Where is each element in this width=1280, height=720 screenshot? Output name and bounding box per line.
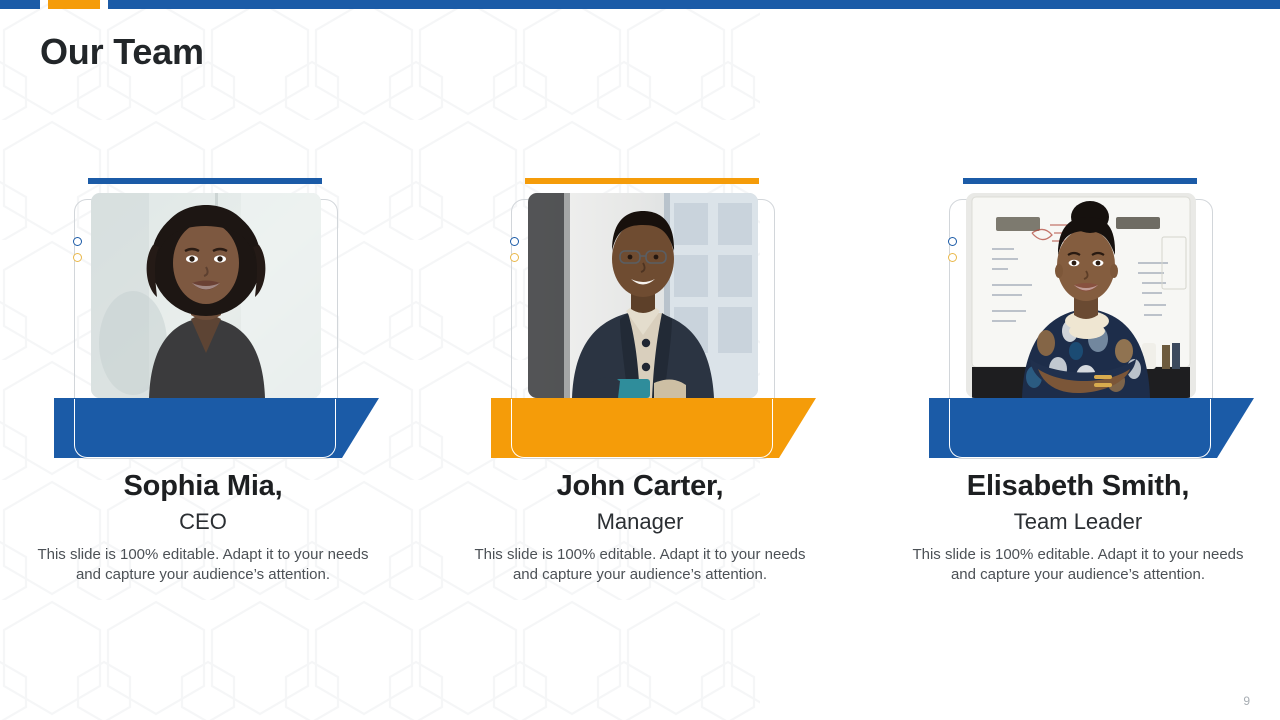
member-role: CEO bbox=[3, 508, 403, 537]
member-photo bbox=[91, 193, 321, 398]
connector-dot-gold-icon bbox=[73, 253, 82, 262]
connector-dot-blue-icon bbox=[948, 237, 957, 246]
topbar-segment-orange bbox=[48, 0, 100, 9]
top-accent-bar bbox=[0, 0, 1280, 9]
card-ribbon bbox=[54, 398, 379, 458]
member-text-block: John Carter, Manager This slide is 100% … bbox=[440, 468, 840, 584]
member-text-block: Elisabeth Smith, Team Leader This slide … bbox=[878, 468, 1278, 584]
topbar-segment-blue-left bbox=[0, 0, 40, 9]
connector-dot-gold-icon bbox=[948, 253, 957, 262]
member-description: This slide is 100% editable. Adapt it to… bbox=[470, 545, 810, 585]
card-top-rule bbox=[525, 178, 759, 184]
topbar-segment-blue-right bbox=[108, 0, 1280, 9]
member-photo bbox=[528, 193, 758, 398]
member-role: Team Leader bbox=[878, 508, 1278, 537]
team-member-card: Elisabeth Smith, Team Leader This slide … bbox=[878, 170, 1278, 590]
member-name: John Carter, bbox=[440, 468, 840, 504]
team-member-card: Sophia Mia, CEO This slide is 100% edita… bbox=[3, 170, 403, 590]
page-title: Our Team bbox=[40, 32, 204, 72]
member-description: This slide is 100% editable. Adapt it to… bbox=[33, 545, 373, 585]
member-photo bbox=[966, 193, 1196, 398]
page-number: 9 bbox=[1243, 694, 1250, 708]
connector-dot-blue-icon bbox=[510, 237, 519, 246]
card-top-rule bbox=[88, 178, 322, 184]
member-photo-block bbox=[3, 170, 403, 470]
connector-dot-gold-icon bbox=[510, 253, 519, 262]
card-ribbon bbox=[491, 398, 816, 458]
member-name: Elisabeth Smith, bbox=[878, 468, 1278, 504]
card-top-rule bbox=[963, 178, 1197, 184]
member-photo-block bbox=[440, 170, 840, 470]
member-role: Manager bbox=[440, 508, 840, 537]
card-ribbon bbox=[929, 398, 1254, 458]
team-member-card: John Carter, Manager This slide is 100% … bbox=[440, 170, 840, 590]
member-description: This slide is 100% editable. Adapt it to… bbox=[908, 545, 1248, 585]
member-photo-block bbox=[878, 170, 1278, 470]
member-text-block: Sophia Mia, CEO This slide is 100% edita… bbox=[3, 468, 403, 584]
member-name: Sophia Mia, bbox=[3, 468, 403, 504]
connector-dot-blue-icon bbox=[73, 237, 82, 246]
